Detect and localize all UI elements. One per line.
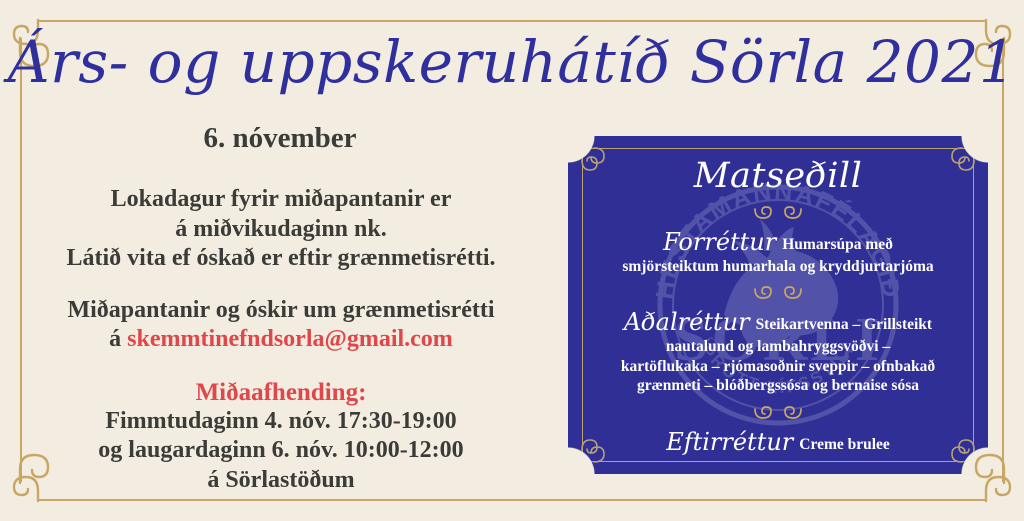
menu-title: Matseðill (568, 156, 988, 196)
pickup-heading: Miðaafhending: (26, 379, 536, 407)
orders-prefix: á (109, 326, 127, 352)
deadline-line-3: Látið vita ef óskað er eftir grænmetisré… (26, 244, 536, 274)
course-item: EftirrétturCreme brulee (568, 427, 988, 457)
ornament-divider (568, 285, 988, 301)
course-name: Forréttur (663, 228, 776, 256)
frame-right-line (1002, 38, 1004, 482)
course-name: Aðalréttur (624, 308, 750, 336)
pickup-line-1: Fimmtudaginn 4. nóv. 17:30-19:00 (26, 407, 536, 437)
page-title: Árs- og uppskeruhátíð Sörla 2021 (0, 28, 1024, 96)
frame-bottom-line (38, 499, 986, 501)
course-item: ForrétturHumarsúpa með smjörsteiktum hum… (568, 227, 988, 276)
deadline-line-1: Lokadagur fyrir miðapantanir er (26, 185, 536, 215)
course-desc-line: Creme brulee (799, 436, 890, 453)
menu-content: Matseðill ForrétturHumarsúpa með smjörst… (568, 136, 988, 474)
menu-panel: HESTAMANNAFÉLAGIÐ ÍÞRÓTT LÍFSSTÍLL SÖRLI (568, 136, 988, 474)
course-desc-line: Humarsúpa með (782, 236, 893, 253)
course-desc-line: grænmeti – blóðbergssósa og bernaise sós… (588, 376, 968, 395)
info-column: Lokadagur fyrir miðapantanir er á miðvik… (26, 185, 536, 496)
deadline-line-2: á miðvikudaginn nk. (26, 215, 536, 245)
course-name: Eftirréttur (666, 428, 793, 456)
contact-email-link[interactable]: skemmtinefndsorla@gmail.com (127, 326, 453, 352)
pickup-line-2: og laugardaginn 6. nóv. 10:00-12:00 (26, 436, 536, 466)
event-poster: Árs- og uppskeruhátíð Sörla 2021 6. nóve… (0, 0, 1024, 521)
frame-top-line (38, 20, 986, 22)
orders-email-line: á skemmtinefndsorla@gmail.com (26, 325, 536, 355)
frame-left-line (20, 38, 22, 482)
ornament-divider (568, 205, 988, 221)
course-desc-line: nautalund og lambahryggsvöðvi – (588, 337, 968, 356)
course-desc-line: kartöflukaka – rjómasoðnir sveppir – ofn… (588, 357, 968, 376)
course-desc-line: Steikartvenna – Grillsteikt (756, 316, 933, 333)
ornament-divider (568, 405, 988, 421)
orders-line-1: Miðapantanir og óskir um grænmetisrétti (26, 296, 536, 326)
course-item: AðalrétturSteikartvenna – Grillsteikt na… (568, 307, 988, 395)
course-desc-line: smjörsteiktum humarhala og kryddjurtarjó… (588, 257, 968, 276)
pickup-line-3: á Sörlastöðum (26, 466, 536, 496)
event-date: 6. nóvember (40, 122, 520, 155)
